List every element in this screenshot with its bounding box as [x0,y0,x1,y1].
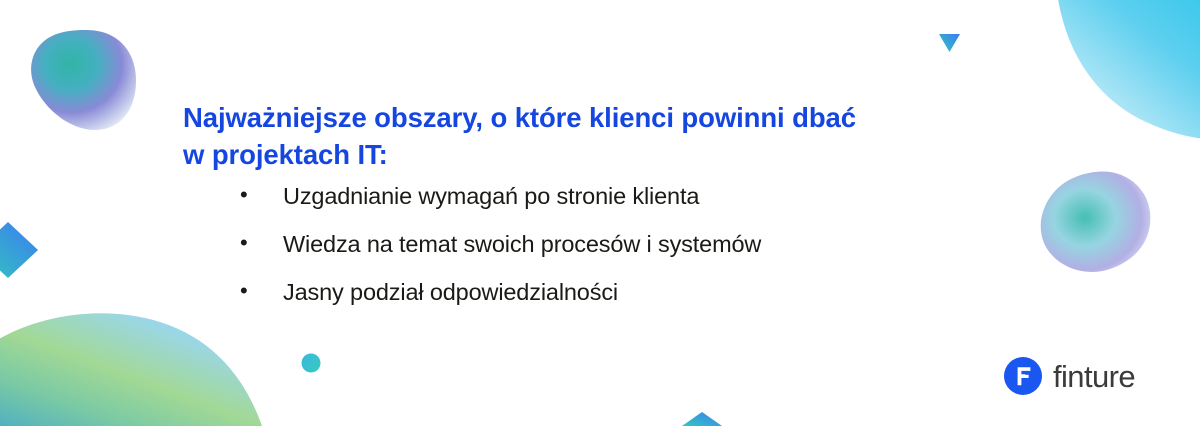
list-item-label: Uzgadnianie wymagań po stronie klienta [283,182,1060,210]
slide-canvas: Najważniejsze obszary, o które klienci p… [0,0,1200,426]
list-item: • Wiedza na temat swoich procesów i syst… [240,230,1060,278]
bullet-marker-icon: • [240,232,283,254]
list-item: • Jasny podział odpowiedzialności [240,278,1060,326]
bullet-marker-icon: • [240,280,283,302]
list-item: • Uzgadnianie wymagań po stronie klienta [240,182,1060,230]
brand-wordmark: finture [1053,361,1135,392]
slide-content: Najważniejsze obszary, o które klienci p… [0,0,1200,426]
page-title: Najważniejsze obszary, o które klienci p… [183,100,943,173]
list-item-label: Jasny podział odpowiedzialności [283,278,1060,306]
list-item-label: Wiedza na temat swoich procesów i system… [283,230,1060,258]
brand-logo: finture [1004,357,1135,395]
finture-f-mark-icon [1004,357,1042,395]
bullet-marker-icon: • [240,184,283,206]
key-areas-list: • Uzgadnianie wymagań po stronie klienta… [240,182,1060,326]
